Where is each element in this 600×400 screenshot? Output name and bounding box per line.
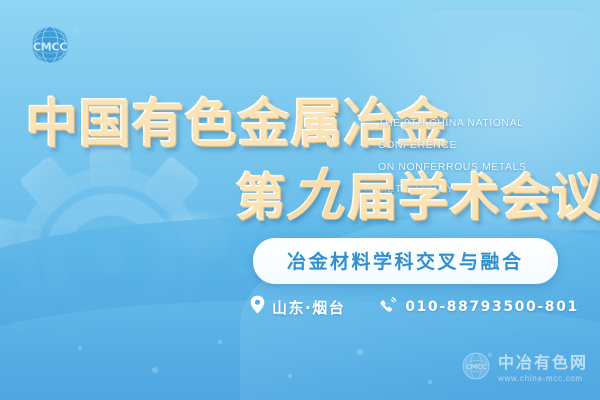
watermark-site-name: 中冶有色网 <box>498 355 588 371</box>
title-chinese-line2-prefix: 第 <box>236 169 287 227</box>
background-particles <box>60 330 480 400</box>
map-pin-icon <box>250 295 265 319</box>
phone-ringing-icon <box>379 295 398 319</box>
conference-poster: CMCC ® 中国有色金属冶金 THE 9TH CHINA NATIONAL C… <box>0 0 600 400</box>
phone-text: 010-88793500-801 <box>405 299 579 315</box>
subtitle-badge: 冶金材料学科交叉与融合 <box>253 238 558 284</box>
watermark-text: 中冶有色网 www.china-mcc.com <box>498 355 588 383</box>
globe-logo-icon: CMCC ® <box>22 24 84 66</box>
title-english-line1: THE 9TH CHINA NATIONAL CONFERENCE <box>378 112 584 156</box>
title-chinese-line2: 第九届学术会议 <box>236 168 600 226</box>
location-text: 山东·烟台 <box>272 297 345 318</box>
subtitle-text: 冶金材料学科交叉与融合 <box>287 251 524 273</box>
location-item: 山东·烟台 <box>250 295 345 319</box>
title-chinese-ordinal-nine: 九 <box>284 168 351 224</box>
site-watermark: CMCC ® 中冶有色网 www.china-mcc.com <box>462 351 588 386</box>
phone-item: 010-88793500-801 <box>379 295 579 319</box>
svg-text:®: ® <box>488 352 492 359</box>
watermark-url: www.china-mcc.com <box>498 375 588 383</box>
svg-text:®: ® <box>74 28 80 36</box>
title-chinese-line2-suffix: 届学术会议 <box>348 169 600 227</box>
svg-text:CMCC: CMCC <box>33 41 67 54</box>
globe-logo-icon: CMCC ® <box>462 351 492 386</box>
event-meta-row: 山东·烟台 010-88793500-801 <box>250 295 579 319</box>
svg-text:CMCC: CMCC <box>466 363 487 371</box>
